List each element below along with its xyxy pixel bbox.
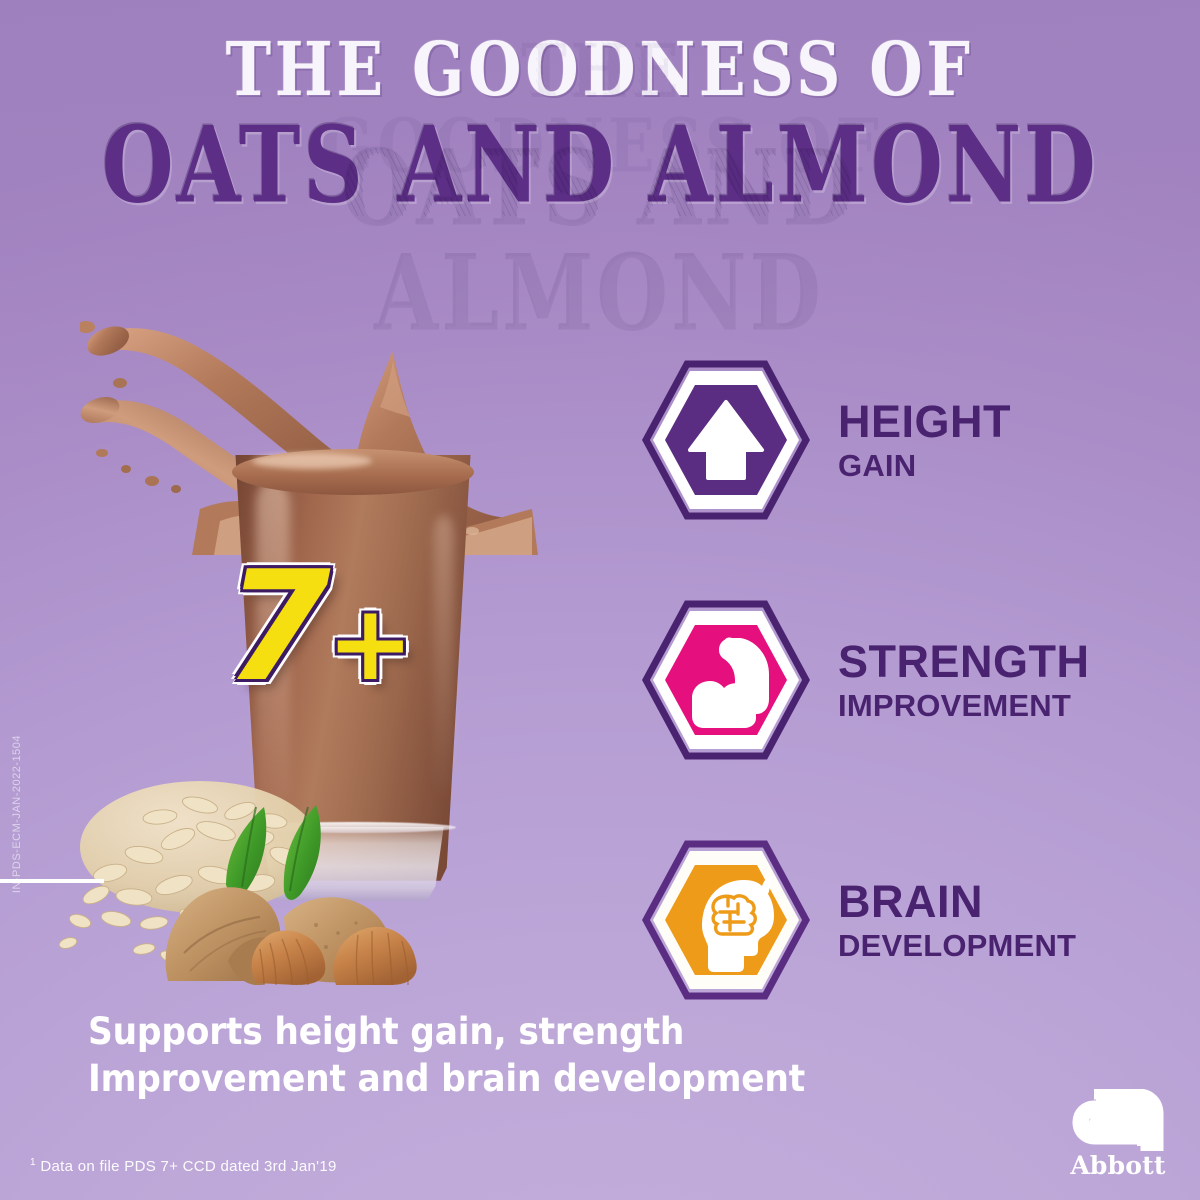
product-badge-7plus: 7+ [225,552,405,722]
footnote-marker: 1 [30,1157,36,1168]
benefit-title: STRENGTH [838,639,1090,684]
footnote: 1 Data on file PDS 7+ CCD dated 3rd Jan'… [30,1157,337,1175]
headline-line1: THE GOODNESS OF [226,32,974,106]
benefits-list: HEIGHT GAIN STREN [640,320,1170,1040]
benefit-item-strength[interactable]: STRENGTH IMPROVEMENT [640,560,1170,800]
hexagon-shape [640,834,812,1006]
benefit-subtitle: GAIN [838,449,1011,483]
benefit-subtitle: DEVELOPMENT [838,929,1076,963]
brain-label-group: BRAIN DEVELOPMENT [838,877,1076,963]
headline-line1-row: THE GOODNESS OF THE GOODNESS OF [0,38,1200,101]
benefit-item-brain[interactable]: BRAIN DEVELOPMENT [640,800,1170,1040]
oats-and-almonds-group [50,735,480,985]
strength-hexagon-badge[interactable] [640,594,812,766]
hexagon-shape [640,594,812,766]
strength-label-group: STRENGTH IMPROVEMENT [838,637,1090,723]
product-badge-number: 7 [225,538,327,715]
abbott-logo: Abbott [1062,1089,1174,1178]
tagline-block: Supports height gain, strength Improveme… [88,1008,869,1103]
shake-surface-highlight [252,453,372,469]
abbott-a-mark-icon [1072,1089,1164,1151]
headline-block: THE GOODNESS OF THE GOODNESS OF OATS AND… [0,38,1200,209]
hexagon-shape [640,354,812,526]
tagline-line2: Improvement and brain development [88,1055,869,1102]
abbott-wordmark: Abbott [1062,1153,1174,1178]
headline-line2-row: OATS AND ALMOND OATS AND ALMOND [0,101,1200,209]
benefit-title: BRAIN [838,879,1076,924]
height-hexagon-badge[interactable] [640,354,812,526]
benefit-title: HEIGHT [838,399,1011,444]
headline-line2: OATS AND ALMOND [102,114,1099,219]
height-label-group: HEIGHT GAIN [838,397,1011,483]
tagline-line1: Supports height gain, strength [88,1008,869,1055]
product-badge-plus: + [327,582,410,704]
benefit-item-height[interactable]: HEIGHT GAIN [640,320,1170,560]
almonds-icon [166,887,417,985]
advertisement-canvas: THE GOODNESS OF THE GOODNESS OF OATS AND… [0,0,1200,1200]
footnote-text: Data on file PDS 7+ CCD dated 3rd Jan'19 [40,1158,336,1175]
brain-hexagon-badge[interactable] [640,834,812,1006]
benefit-subtitle: IMPROVEMENT [838,689,1090,723]
regulatory-side-code: IN-PDS-ECM-JAN-2022-1504 [11,735,23,893]
